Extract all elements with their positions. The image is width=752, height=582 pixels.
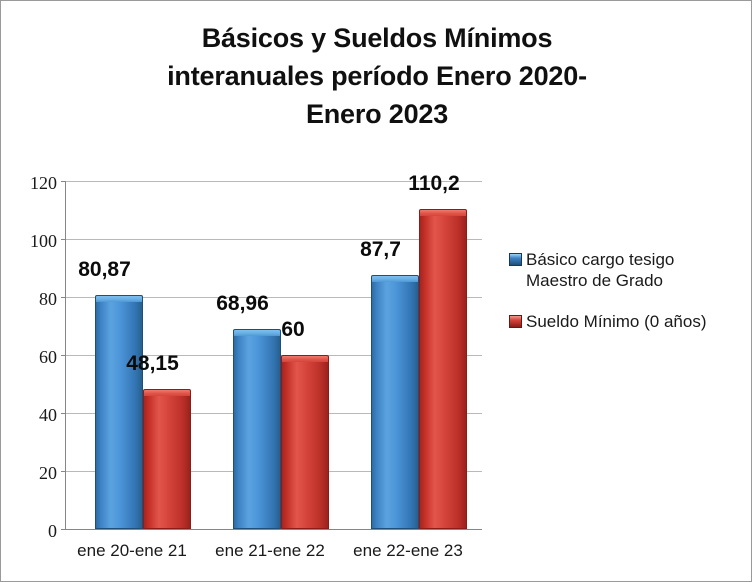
legend-item-serie1[interactable]: Básico cargo tesigo Maestro de Grado bbox=[509, 249, 747, 291]
y-tick-label-20: 20 bbox=[9, 464, 57, 482]
data-label-serie2-cat3: 110,2 bbox=[389, 173, 479, 194]
y-tick-40 bbox=[61, 413, 66, 414]
y-tick-80 bbox=[61, 297, 66, 298]
data-label-serie1-cat3: 87,7 bbox=[343, 239, 418, 260]
chart-legend: Básico cargo tesigo Maestro de Grado Sue… bbox=[509, 249, 747, 352]
legend-label-serie1-line2: Maestro de Grado bbox=[526, 271, 663, 290]
x-tick-label-cat3: ene 22-ene 23 bbox=[338, 542, 478, 559]
chart-title-line-1: Básicos y Sueldos Mínimos bbox=[61, 19, 693, 57]
y-tick-label-80: 80 bbox=[9, 290, 57, 308]
bar-body bbox=[371, 282, 419, 529]
y-tick-100 bbox=[61, 239, 66, 240]
y-tick-label-100: 100 bbox=[9, 232, 57, 250]
bar-serie2-cat3[interactable] bbox=[419, 209, 467, 529]
x-tick-label-cat2: ene 21-ene 22 bbox=[200, 542, 340, 559]
data-label-serie1-cat2: 68,96 bbox=[205, 293, 280, 314]
y-tick-120 bbox=[61, 181, 66, 182]
y-tick-label-40: 40 bbox=[9, 406, 57, 424]
y-tick-20 bbox=[61, 471, 66, 472]
data-label-serie2-cat2: 60 bbox=[258, 319, 328, 340]
bar-body bbox=[95, 302, 143, 529]
bar-serie1-cat2[interactable] bbox=[233, 329, 281, 529]
bar-body bbox=[233, 336, 281, 529]
chart-title-line-2: interanuales período Enero 2020- bbox=[61, 57, 693, 95]
legend-label-serie1-line1: Básico cargo tesigo bbox=[526, 250, 674, 269]
bar-serie1-cat1[interactable] bbox=[95, 295, 143, 529]
bar-body bbox=[143, 396, 191, 529]
y-tick-label-0: 0 bbox=[9, 522, 57, 540]
bar-body bbox=[281, 362, 329, 529]
bar-serie2-cat1[interactable] bbox=[143, 389, 191, 529]
bar-serie1-cat3[interactable] bbox=[371, 275, 419, 529]
y-tick-label-60: 60 bbox=[9, 348, 57, 366]
data-label-serie1-cat1: 80,87 bbox=[67, 259, 142, 280]
bar-serie2-cat2[interactable] bbox=[281, 355, 329, 529]
blue-swatch-icon bbox=[509, 253, 522, 266]
chart-container: Básicos y Sueldos Mínimos interanuales p… bbox=[0, 0, 752, 582]
y-tick-60 bbox=[61, 355, 66, 356]
data-label-serie2-cat1: 48,15 bbox=[115, 353, 190, 374]
legend-label-serie1: Básico cargo tesigo Maestro de Grado bbox=[526, 249, 674, 291]
chart-title: Básicos y Sueldos Mínimos interanuales p… bbox=[61, 19, 693, 133]
legend-label-serie2: Sueldo Mínimo (0 años) bbox=[526, 311, 706, 332]
red-swatch-icon bbox=[509, 315, 522, 328]
y-tick-label-120: 120 bbox=[9, 174, 57, 192]
x-tick-label-cat1: ene 20-ene 21 bbox=[62, 542, 202, 559]
chart-title-line-3: Enero 2023 bbox=[61, 95, 693, 133]
legend-item-serie2[interactable]: Sueldo Mínimo (0 años) bbox=[509, 311, 747, 332]
legend-label-serie2-line1: Sueldo Mínimo (0 años) bbox=[526, 312, 706, 331]
bar-body bbox=[419, 216, 467, 529]
y-tick-0 bbox=[61, 529, 66, 530]
